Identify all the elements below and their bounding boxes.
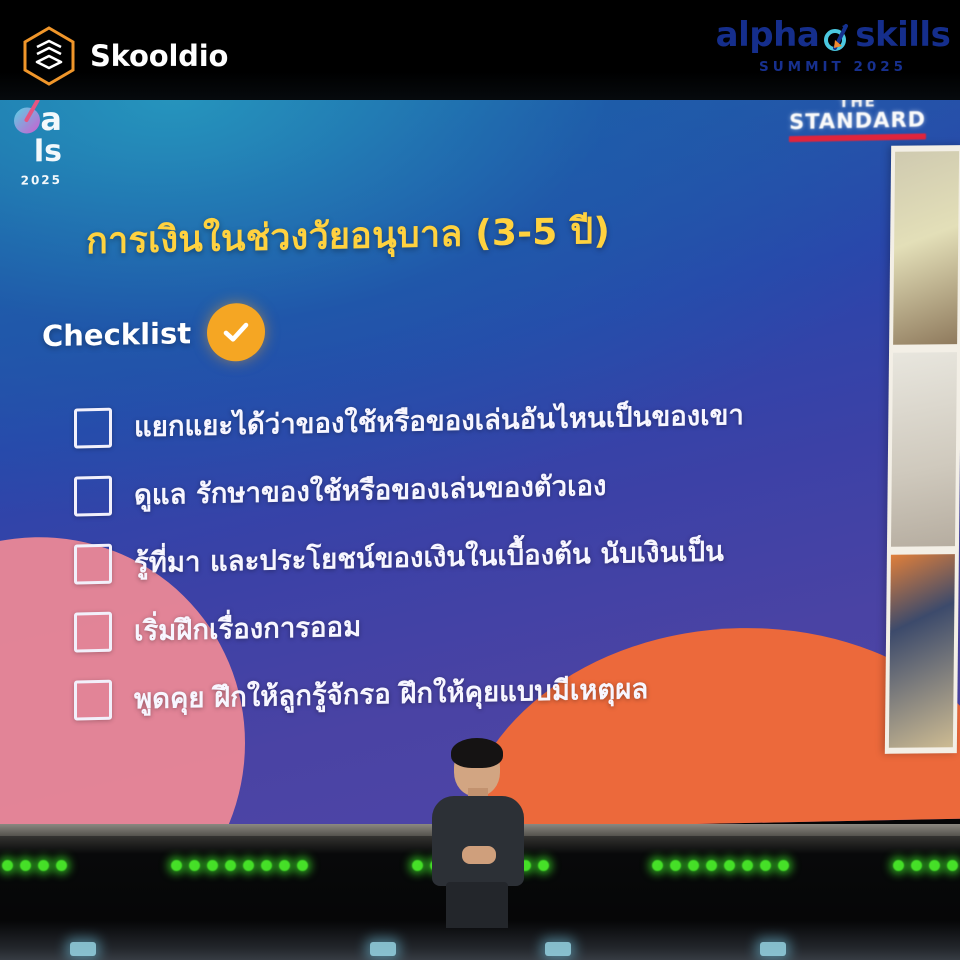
standard-red-bar xyxy=(789,134,926,143)
alpha-orb-arrow-icon xyxy=(822,20,852,50)
checkbox-icon[interactable] xyxy=(74,680,112,721)
checkbox-icon[interactable] xyxy=(74,612,112,653)
checkbox-icon[interactable] xyxy=(74,408,112,449)
led-bar xyxy=(893,860,958,878)
summit-year-label: SUMMIT 2025 xyxy=(728,59,938,75)
speaker-on-stage xyxy=(418,742,536,924)
alpha-skills-wordmark: alpha skills xyxy=(728,18,938,52)
speaker-legs xyxy=(446,882,508,928)
broadcast-overlay-band: Skooldio alpha skills SUMMIT 2025 xyxy=(0,0,960,100)
floor-light xyxy=(370,942,396,956)
slide-title: การเงินในช่วงวัยอนุบาล (3-5 ปี) xyxy=(86,202,610,270)
led-bar xyxy=(652,860,789,878)
checkbox-icon[interactable] xyxy=(74,544,112,585)
speaker-torso xyxy=(432,796,524,886)
speaker-hands xyxy=(462,846,496,864)
checklist-item-label: เริ่มฝึกเรื่องการออม xyxy=(134,605,361,654)
checklist-item-label: รู้ที่มา และประโยชน์ของเงินในเบื้องต้น น… xyxy=(134,529,724,585)
alpha-skills-logo: alpha skills SUMMIT 2025 xyxy=(728,18,938,75)
standard-line2: STANDARD xyxy=(789,108,926,134)
skooldio-hexagon-icon xyxy=(22,26,76,86)
slide-corner-event-logo: a ls 2025 xyxy=(0,103,62,189)
checkbox-icon[interactable] xyxy=(74,476,112,517)
floor-light xyxy=(545,942,571,956)
checklist-item-label: ดูแล รักษาของใช้หรือของเล่นของตัวเอง xyxy=(134,464,606,517)
floor-light xyxy=(760,942,786,956)
corner-logo-line2: ls xyxy=(0,137,62,169)
the-standard-logo: THE STANDARD xyxy=(789,93,926,142)
check-circle-icon xyxy=(207,303,265,362)
floor-light xyxy=(70,942,96,956)
checklist-header: Checklist xyxy=(42,303,265,365)
skills-word: skills xyxy=(855,18,950,52)
checklist-item-label: แยกแยะได้ว่าของใช้หรือของเล่นอันไหนเป็นข… xyxy=(134,393,744,449)
checklist-label: Checklist xyxy=(42,316,191,353)
conference-photo-scene: a ls 2025 THE STANDARD การเงินในช่วงวัยอ… xyxy=(0,0,960,960)
checklist-item-label: พูดคุย ฝึกให้ลูกรู้จักรอ ฝึกให้คุยแบบมีเ… xyxy=(134,667,648,721)
skooldio-wordmark: Skooldio xyxy=(90,39,228,73)
speaker-hair xyxy=(451,738,503,768)
checklist: แยกแยะได้ว่าของใช้หรือของเล่นอันไหนเป็นข… xyxy=(74,378,914,735)
led-bar xyxy=(171,860,308,878)
corner-logo-line3: 2025 xyxy=(0,173,62,189)
photo-thumbnail xyxy=(893,151,959,345)
projection-screen: a ls 2025 THE STANDARD การเงินในช่วงวัยอ… xyxy=(0,67,960,838)
alpha-word: alpha xyxy=(716,18,820,52)
led-bar xyxy=(2,860,67,878)
skooldio-brand: Skooldio xyxy=(22,26,228,86)
